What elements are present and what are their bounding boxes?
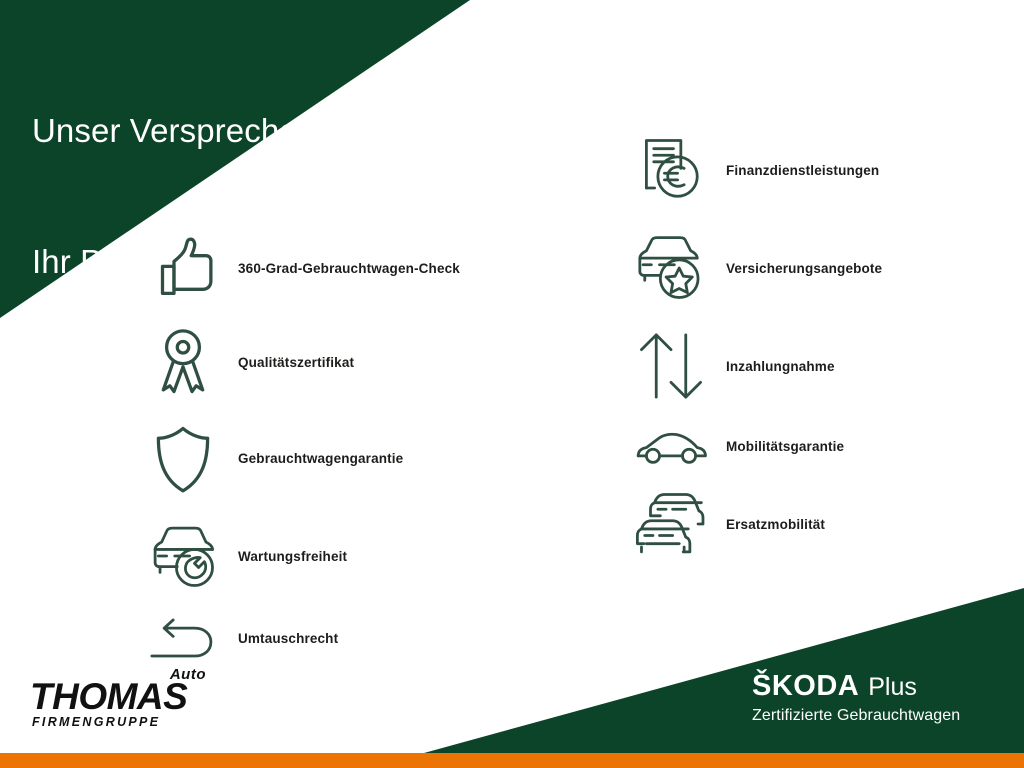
feature-label: Ersatzmobilität xyxy=(726,517,825,532)
car-wrench-icon xyxy=(142,515,224,597)
brand-logo[interactable]: ŠKODA Plus Zertifizierte Gebrauchtwagen xyxy=(752,672,1002,724)
feature-label: Qualitätszertifikat xyxy=(238,355,354,370)
page-title: Unser Versprechen. Ihr Plus. xyxy=(32,22,325,370)
feature-label: Wartungsfreiheit xyxy=(238,549,347,564)
feature-label: Mobilitätsgarantie xyxy=(726,439,844,454)
green-wedge-bottom-right xyxy=(424,588,1024,753)
feature-label: Finanzdienstleistungen xyxy=(726,163,879,178)
feature-label: Inzahlungnahme xyxy=(726,359,835,374)
page-title-line-1: Unser Versprechen. xyxy=(32,109,325,153)
feature-label: Umtauschrecht xyxy=(238,631,338,646)
quality-rosette-icon xyxy=(142,321,224,403)
shield-icon xyxy=(142,417,224,499)
feature-label: Versicherungsangebote xyxy=(726,261,882,276)
dealer-logo-thomas: THOMAS xyxy=(30,678,187,715)
two-cars-icon xyxy=(630,483,712,565)
promo-banner: Unser Versprechen. Ihr Plus. 360-Grad-Ge… xyxy=(0,0,1024,768)
brand-logo-tagline: Zertifizierte Gebrauchtwagen xyxy=(752,708,1002,724)
thumbs-up-icon xyxy=(142,227,224,309)
feature-label: Gebrauchtwagengarantie xyxy=(238,451,403,466)
car-side-icon xyxy=(630,405,712,487)
brand-logo-row: ŠKODA Plus xyxy=(752,672,1002,701)
document-euro-icon xyxy=(630,129,712,211)
car-star-icon xyxy=(630,227,712,309)
feature-label: 360-Grad-Gebrauchtwagen-Check xyxy=(238,261,460,276)
dealer-logo[interactable]: Auto THOMAS FIRMENGRUPPE xyxy=(30,666,210,728)
dealer-logo-gruppe: FIRMENGRUPPE xyxy=(32,715,160,729)
up-down-arrows-icon xyxy=(630,325,712,407)
brand-logo-suffix: Plus xyxy=(868,675,917,700)
brand-logo-name: ŠKODA xyxy=(752,672,859,701)
orange-footer-stripe xyxy=(0,753,1024,768)
